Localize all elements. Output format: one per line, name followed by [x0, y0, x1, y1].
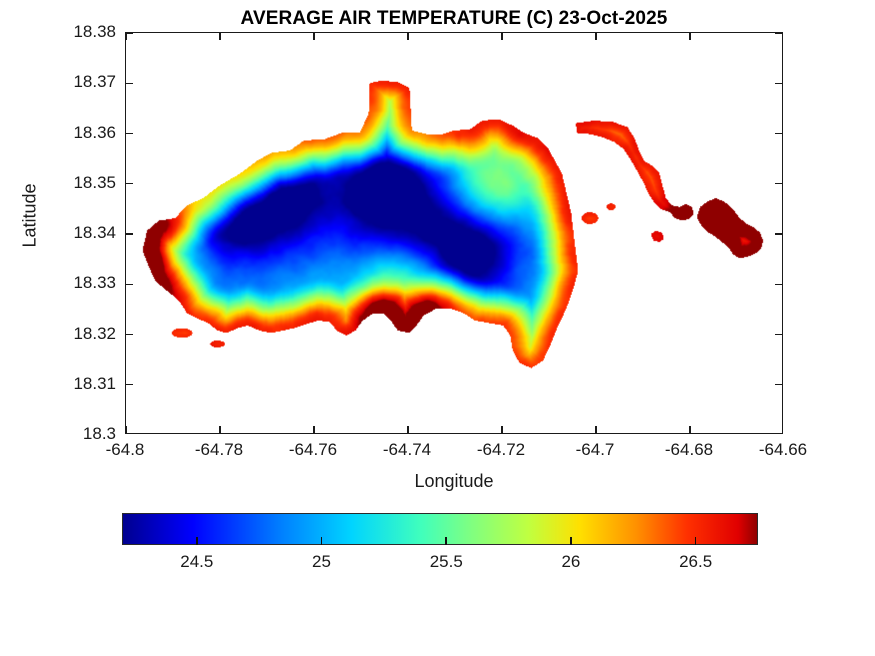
x-tick — [219, 33, 220, 40]
y-tick — [775, 233, 782, 234]
colorbar-tick — [570, 537, 572, 545]
x-tick — [125, 426, 126, 433]
x-tick-label: -64.66 — [759, 440, 807, 460]
y-tick — [126, 284, 133, 285]
figure-canvas: AVERAGE AIR TEMPERATURE (C) 23-Oct-2025 … — [0, 0, 875, 656]
x-tick — [595, 426, 596, 433]
x-tick — [689, 426, 690, 433]
y-tick — [775, 32, 782, 33]
y-tick — [775, 133, 782, 134]
x-tick — [407, 33, 408, 40]
y-tick-label: 18.35 — [73, 173, 116, 193]
y-tick — [126, 133, 133, 134]
x-tick-label: -64.78 — [195, 440, 243, 460]
colorbar-tick — [196, 537, 198, 545]
colorbar-tick — [695, 537, 697, 545]
temperature-raster — [126, 33, 782, 433]
y-tick-label: 18.38 — [73, 22, 116, 42]
colorbar-tick-label: 25.5 — [430, 552, 463, 572]
x-tick — [313, 33, 314, 40]
x-tick — [313, 426, 314, 433]
y-tick — [775, 83, 782, 84]
colorbar-tick — [321, 537, 323, 545]
x-tick — [501, 426, 502, 433]
y-tick — [775, 183, 782, 184]
y-tick-label: 18.31 — [73, 374, 116, 394]
y-tick-label: 18.3 — [83, 424, 116, 444]
y-tick — [126, 83, 133, 84]
y-tick-label: 18.36 — [73, 123, 116, 143]
x-tick — [689, 33, 690, 40]
y-tick-label: 18.32 — [73, 324, 116, 344]
x-tick-label: -64.7 — [576, 440, 615, 460]
colorbar-tick-label: 26 — [561, 552, 580, 572]
x-axis-label: Longitude — [125, 471, 783, 492]
y-tick — [775, 384, 782, 385]
y-tick — [126, 384, 133, 385]
x-tick — [407, 426, 408, 433]
y-tick — [775, 284, 782, 285]
y-tick — [775, 334, 782, 335]
x-tick-label: -64.74 — [383, 440, 431, 460]
x-tick — [219, 426, 220, 433]
colorbar-tick-label: 25 — [312, 552, 331, 572]
y-tick — [126, 32, 133, 33]
y-tick — [126, 334, 133, 335]
y-tick — [126, 233, 133, 234]
page-title: AVERAGE AIR TEMPERATURE (C) 23-Oct-2025 — [125, 8, 783, 30]
y-tick — [126, 183, 133, 184]
colorbar-tick-label: 24.5 — [180, 552, 213, 572]
map-axes[interactable] — [125, 32, 783, 434]
x-tick-label: -64.68 — [665, 440, 713, 460]
y-tick-label: 18.34 — [73, 223, 116, 243]
x-tick — [595, 33, 596, 40]
colorbar-tick-label: 26.5 — [679, 552, 712, 572]
colorbar-gradient — [122, 513, 758, 545]
x-tick — [125, 33, 126, 40]
colorbar-tick — [445, 537, 447, 545]
colorbar[interactable] — [122, 513, 758, 545]
y-tick-label: 18.37 — [73, 72, 116, 92]
y-tick-label: 18.33 — [73, 273, 116, 293]
x-tick-label: -64.76 — [289, 440, 337, 460]
x-tick — [501, 33, 502, 40]
y-axis-label: Latitude — [20, 136, 41, 296]
x-tick-label: -64.72 — [477, 440, 525, 460]
